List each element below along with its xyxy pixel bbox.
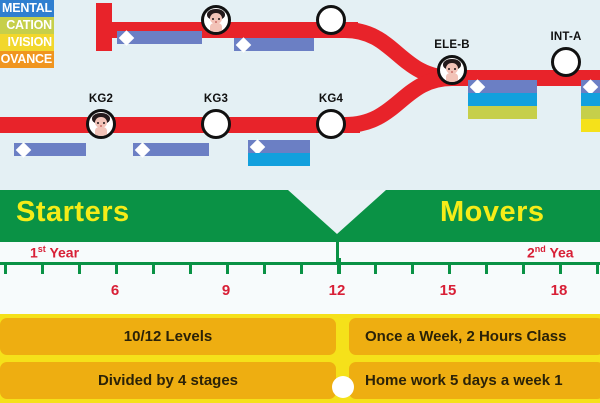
timeline-tick: [300, 265, 303, 274]
route-map: MENTAL CATION IVISION OVANCE KG2KG3KG4EL…: [0, 0, 600, 190]
level-bar-group: [234, 38, 314, 51]
level-bar: [234, 38, 314, 51]
timeline-month-label: 18: [551, 282, 568, 299]
level-bar: [581, 80, 600, 93]
level-bar: [14, 143, 86, 156]
station-marker: [86, 109, 116, 139]
station-marker: [201, 5, 231, 35]
level-bar-group: [468, 80, 537, 119]
level-bar-group: [581, 80, 600, 132]
year-label-first: 1st Year: [30, 244, 79, 261]
level-bar: [581, 106, 600, 119]
detail-card-text: Once a Week, 2 Hours Class: [349, 328, 566, 345]
timeline-tick: [411, 265, 414, 274]
level-bar: [581, 93, 600, 106]
timeline-tick: [596, 265, 599, 274]
student-avatar-icon: [89, 112, 113, 136]
detail-card[interactable]: Once a Week, 2 Hours Class: [349, 318, 600, 355]
detail-card[interactable]: Divided by 4 stages: [0, 362, 336, 399]
diamond-icon: [470, 79, 486, 95]
learning-roadmap-infographic: MENTAL CATION IVISION OVANCE KG2KG3KG4EL…: [0, 0, 600, 403]
timeline-node-dot: [332, 376, 354, 398]
level-bar: [468, 106, 537, 119]
month-timeline: 69121518: [0, 262, 600, 314]
detail-card-text: Divided by 4 stages: [0, 372, 336, 389]
station-marker: [316, 5, 346, 35]
level-bar: [468, 80, 537, 93]
station-label: KG4: [319, 93, 343, 105]
timeline-tick: [4, 265, 7, 274]
timeline-tick: [226, 265, 229, 274]
level-bar: [468, 93, 537, 106]
year-first-word: Year: [49, 245, 79, 261]
timeline-month-label: 6: [111, 282, 119, 299]
station-node[interactable]: [201, 5, 231, 35]
year-second-word: Yea: [549, 245, 573, 261]
level-bar-group: [133, 143, 209, 156]
timeline-tick: [522, 265, 525, 274]
level-bar: [581, 119, 600, 132]
diamond-icon: [583, 79, 599, 95]
station-node[interactable]: [316, 5, 346, 35]
timeline-month-label: 15: [440, 282, 457, 299]
legend-row-0: MENTAL: [0, 0, 54, 17]
level-bar-group: [248, 140, 310, 166]
timeline-tick: [152, 265, 155, 274]
legend-label-1: CATION: [6, 18, 52, 32]
station-kg3[interactable]: KG3: [201, 109, 231, 139]
timeline-tick: [374, 265, 377, 274]
legend-row-1: CATION: [0, 17, 54, 34]
diamond-icon: [236, 37, 252, 53]
detail-card-text: Home work 5 days a week 1: [349, 372, 563, 389]
timeline-tick: [263, 265, 266, 274]
stage-banner: Starters Movers: [0, 190, 600, 242]
station-label: INT-A: [550, 31, 581, 43]
stage-label-movers: Movers: [440, 196, 545, 229]
diamond-icon: [16, 142, 32, 158]
timeline-month-label: 9: [222, 282, 230, 299]
student-avatar-icon: [204, 8, 228, 32]
diamond-icon: [119, 30, 135, 46]
timeline-tick: [448, 265, 451, 274]
station-kg4[interactable]: KG4: [316, 109, 346, 139]
year-label-second: 2nd Yea: [527, 244, 574, 261]
station-marker: [316, 109, 346, 139]
legend: MENTAL CATION IVISION OVANCE: [0, 0, 54, 68]
year-second-number: 2: [527, 245, 535, 261]
station-marker: [437, 55, 467, 85]
station-marker: [551, 47, 581, 77]
diamond-icon: [250, 139, 266, 155]
level-bar: [133, 143, 209, 156]
station-kg2[interactable]: KG2: [86, 109, 116, 139]
timeline-tick: [41, 265, 44, 274]
detail-card-text: 10/12 Levels: [0, 328, 336, 345]
timeline-tick: [559, 265, 562, 274]
station-ele-b[interactable]: ELE-B: [437, 55, 467, 85]
station-int-a[interactable]: INT-A: [551, 47, 581, 77]
year-first-number: 1: [30, 245, 38, 261]
station-label: ELE-B: [434, 39, 470, 51]
timeline-tick: [189, 265, 192, 274]
timeline-tick: [337, 258, 341, 274]
stage-label-starters: Starters: [16, 196, 130, 229]
legend-label-3: OVANCE: [1, 52, 52, 66]
station-marker: [201, 109, 231, 139]
legend-label-2: IVISION: [8, 35, 52, 49]
station-label: KG2: [89, 93, 113, 105]
year-second-suffix: nd: [535, 244, 546, 254]
level-bar-group: [117, 31, 202, 44]
timeline-tick: [115, 265, 118, 274]
year-first-suffix: st: [38, 244, 46, 254]
detail-card[interactable]: 10/12 Levels: [0, 318, 336, 355]
detail-card[interactable]: Home work 5 days a week 1: [349, 362, 600, 399]
legend-row-2: IVISION: [0, 34, 54, 51]
legend-row-3: OVANCE: [0, 51, 54, 68]
level-bar: [248, 153, 310, 166]
diamond-icon: [135, 142, 151, 158]
level-bar: [117, 31, 202, 44]
station-label: KG3: [204, 93, 228, 105]
detail-cards: 10/12 LevelsDivided by 4 stagesOnce a We…: [0, 314, 600, 403]
timeline-month-label: 12: [329, 282, 346, 299]
student-avatar-icon: [440, 58, 464, 82]
level-bar: [248, 140, 310, 153]
legend-label-0: MENTAL: [2, 1, 52, 15]
timeline-tick: [485, 265, 488, 274]
timeline-tick: [78, 265, 81, 274]
level-bar-group: [14, 143, 86, 156]
